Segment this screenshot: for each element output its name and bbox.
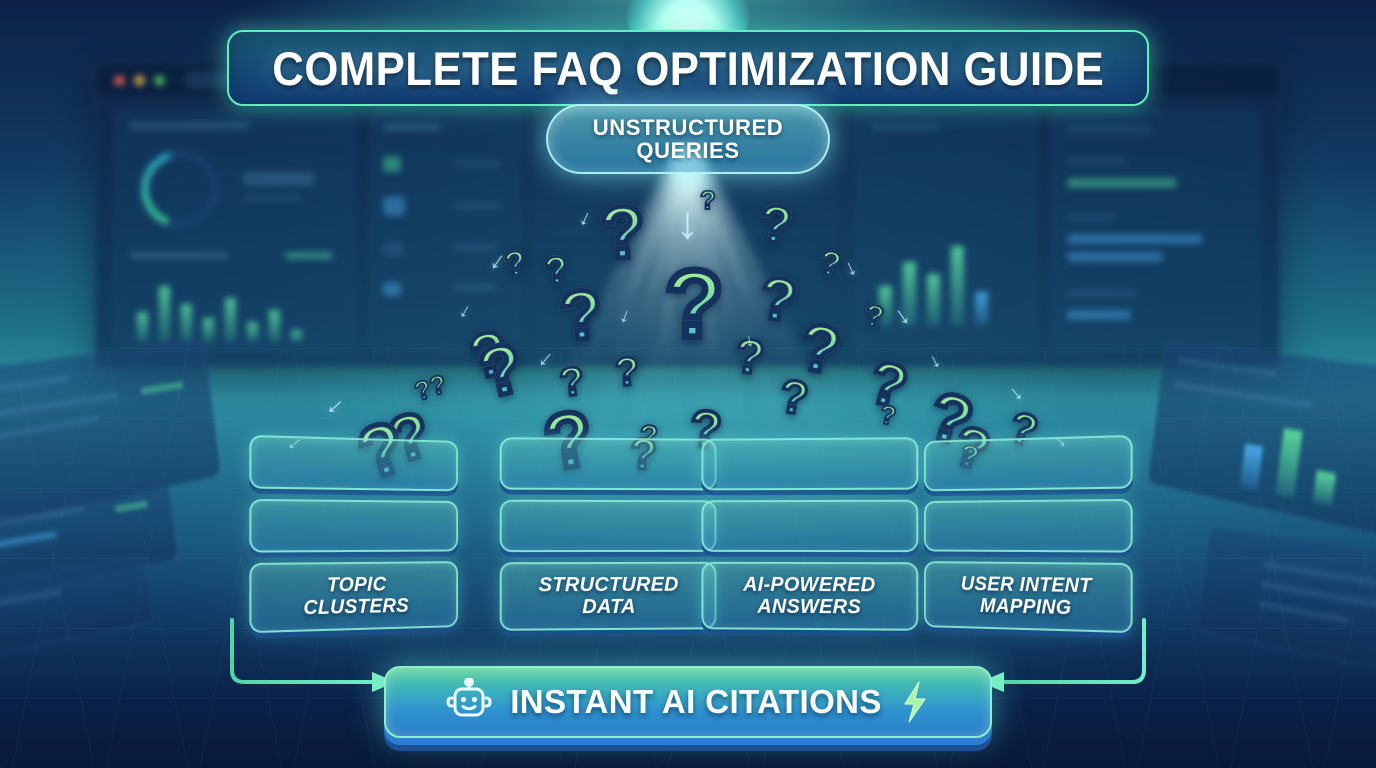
metrics-panel: [114, 109, 354, 351]
progress-panel: [1052, 109, 1260, 351]
question-mark-glyph: ?: [426, 369, 449, 403]
source-node-label-line1: UNSTRUCTURED: [593, 116, 784, 139]
tilted-panel-right-top: [1148, 338, 1376, 540]
pillar-label-card[interactable]: AI-POWERED ANSWERS: [701, 562, 918, 631]
traffic-light-red-icon: [114, 75, 125, 86]
chart-panel-right: [856, 109, 1036, 351]
pillar-plate-top: [924, 435, 1133, 492]
traffic-light-yellow-icon: [134, 75, 145, 86]
question-mark-glyph: ?: [776, 368, 811, 425]
outcome-label: INSTANT AI CITATIONS: [510, 683, 882, 721]
pillar-plate-top: [249, 435, 458, 492]
lightning-bolt-icon: [898, 678, 932, 726]
tilted-bar-chart: [1233, 413, 1376, 516]
pillar-label: TOPIC CLUSTERS: [303, 573, 408, 620]
traffic-light-green-icon: [154, 75, 165, 86]
pillar-label-card[interactable]: TOPIC CLUSTERS: [249, 561, 458, 633]
source-node-unstructured-queries[interactable]: UNSTRUCTURED QUERIES: [546, 104, 830, 174]
source-node-label-line2: QUERIES: [636, 139, 739, 162]
pillar-topic-clusters[interactable]: TOPIC CLUSTERS: [249, 435, 458, 633]
pillar-plate-mid: [924, 499, 1133, 553]
pillar-label: AI-POWERED ANSWERS: [743, 573, 875, 618]
pillar-structured-data[interactable]: STRUCTURED DATA: [500, 437, 717, 631]
tilted-panel-right-bottom: [1197, 527, 1376, 679]
question-mark-glyph: ?: [877, 399, 898, 432]
pillar-label-card[interactable]: STRUCTURED DATA: [500, 562, 717, 631]
pillar-user-intent-mapping[interactable]: USER INTENT MAPPING: [924, 435, 1133, 633]
flow-arrow-icon: ↓: [321, 390, 353, 420]
pillar-label-card[interactable]: USER INTENT MAPPING: [924, 561, 1133, 633]
pillar-label: USER INTENT MAPPING: [961, 573, 1092, 620]
page-title-banner: COMPLETE FAQ OPTIMIZATION GUIDE: [227, 30, 1149, 106]
pillar-plate-top: [500, 437, 717, 490]
pillar-plate-top: [701, 437, 918, 490]
bar-chart-right: [873, 230, 1023, 326]
infographic-canvas: ??????????????????????????????? ↓↓↓↓↓↓↓↓…: [0, 0, 1376, 768]
donut-chart: [141, 150, 219, 228]
robot-icon: [444, 678, 494, 726]
pillar-ai-powered-answers[interactable]: AI-POWERED ANSWERS: [701, 437, 918, 631]
outcome-bar-instant-ai-citations[interactable]: INSTANT AI CITATIONS: [384, 666, 992, 738]
pillar-plate-mid: [500, 500, 717, 552]
list-panel-left: [370, 109, 520, 351]
pillar-plate-mid: [701, 500, 918, 552]
bar-chart: [133, 280, 343, 342]
page-title: COMPLETE FAQ OPTIMIZATION GUIDE: [272, 41, 1104, 96]
flow-arrow-icon: ↓: [1003, 380, 1028, 407]
question-mark-glyph: ?: [411, 373, 435, 407]
pillar-label: STRUCTURED DATA: [539, 573, 679, 618]
pillar-plate-mid: [249, 499, 458, 553]
